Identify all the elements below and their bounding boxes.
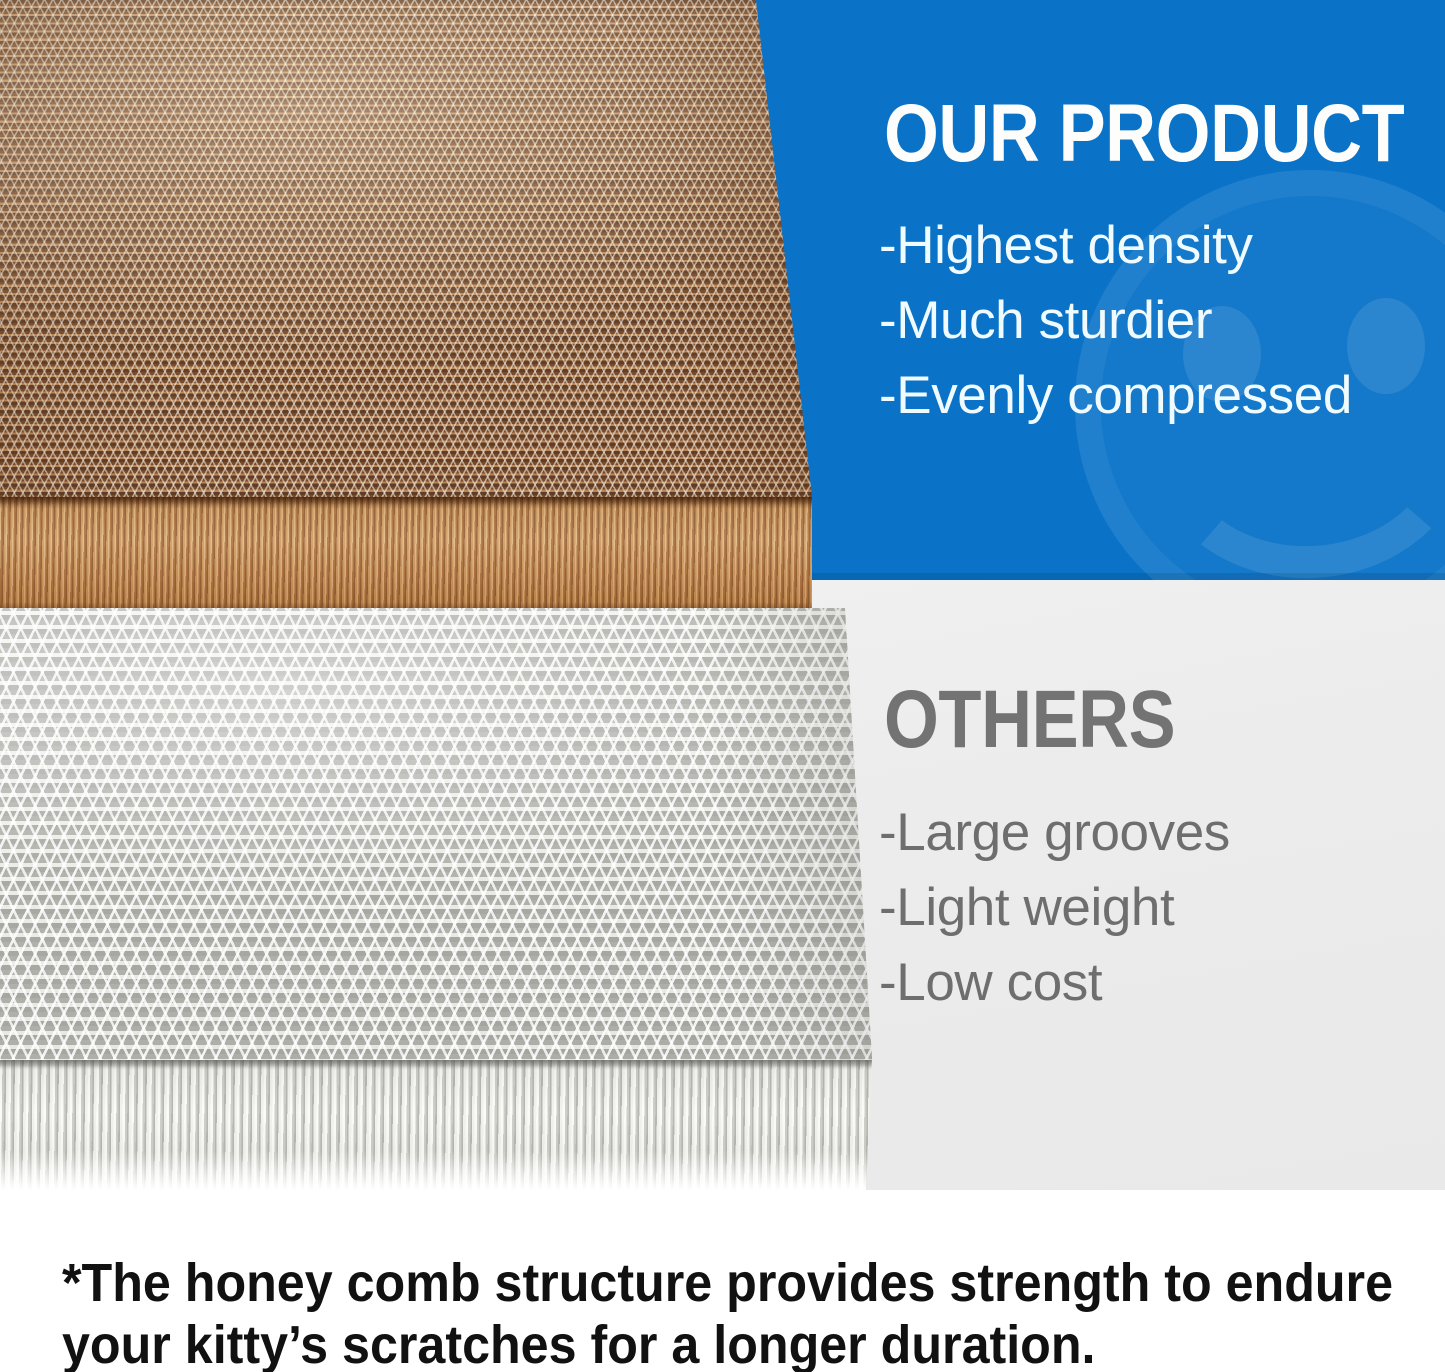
others-bullet: -Low cost bbox=[879, 945, 1230, 1020]
our-product-bullet-list: -Highest density -Much sturdier -Evenly … bbox=[879, 208, 1352, 433]
footer-caption: *The honey comb structure provides stren… bbox=[0, 1190, 1445, 1372]
cardboard-edge-top-shadow bbox=[0, 497, 812, 509]
our-product-bullet: -Much sturdier bbox=[879, 283, 1352, 358]
caption-line-1: *The honey comb structure provides stren… bbox=[62, 1252, 1393, 1314]
our-product-heading: OUR PRODUCT bbox=[884, 90, 1404, 178]
honeycomb-top-surface bbox=[0, 608, 878, 1063]
cardboard-lighting bbox=[0, 0, 812, 500]
infographic-canvas: OUR PRODUCT OTHERS -Highest density -Muc… bbox=[0, 0, 1445, 1372]
cardboard-top-surface bbox=[0, 0, 812, 500]
others-honeycomb-photo bbox=[0, 608, 878, 1190]
our-product-cardboard-photo bbox=[0, 0, 812, 612]
our-product-bullet: -Highest density bbox=[879, 208, 1352, 283]
honeycomb-fiber-edge bbox=[0, 1060, 878, 1190]
others-bullet: -Large grooves bbox=[879, 795, 1230, 870]
others-bullet: -Light weight bbox=[879, 870, 1230, 945]
others-heading: OTHERS bbox=[884, 676, 1175, 764]
cardboard-fiber-edge bbox=[0, 497, 812, 612]
our-product-bullet: -Evenly compressed bbox=[879, 358, 1352, 433]
honeycomb-edge-fade bbox=[0, 1150, 878, 1190]
others-bullet-list: -Large grooves -Light weight -Low cost bbox=[879, 795, 1230, 1020]
honeycomb-lighting bbox=[0, 608, 878, 1063]
honeycomb-edge-top-shadow bbox=[0, 1060, 878, 1070]
caption-line-2: your kitty’s scratches for a longer dura… bbox=[62, 1314, 1095, 1372]
